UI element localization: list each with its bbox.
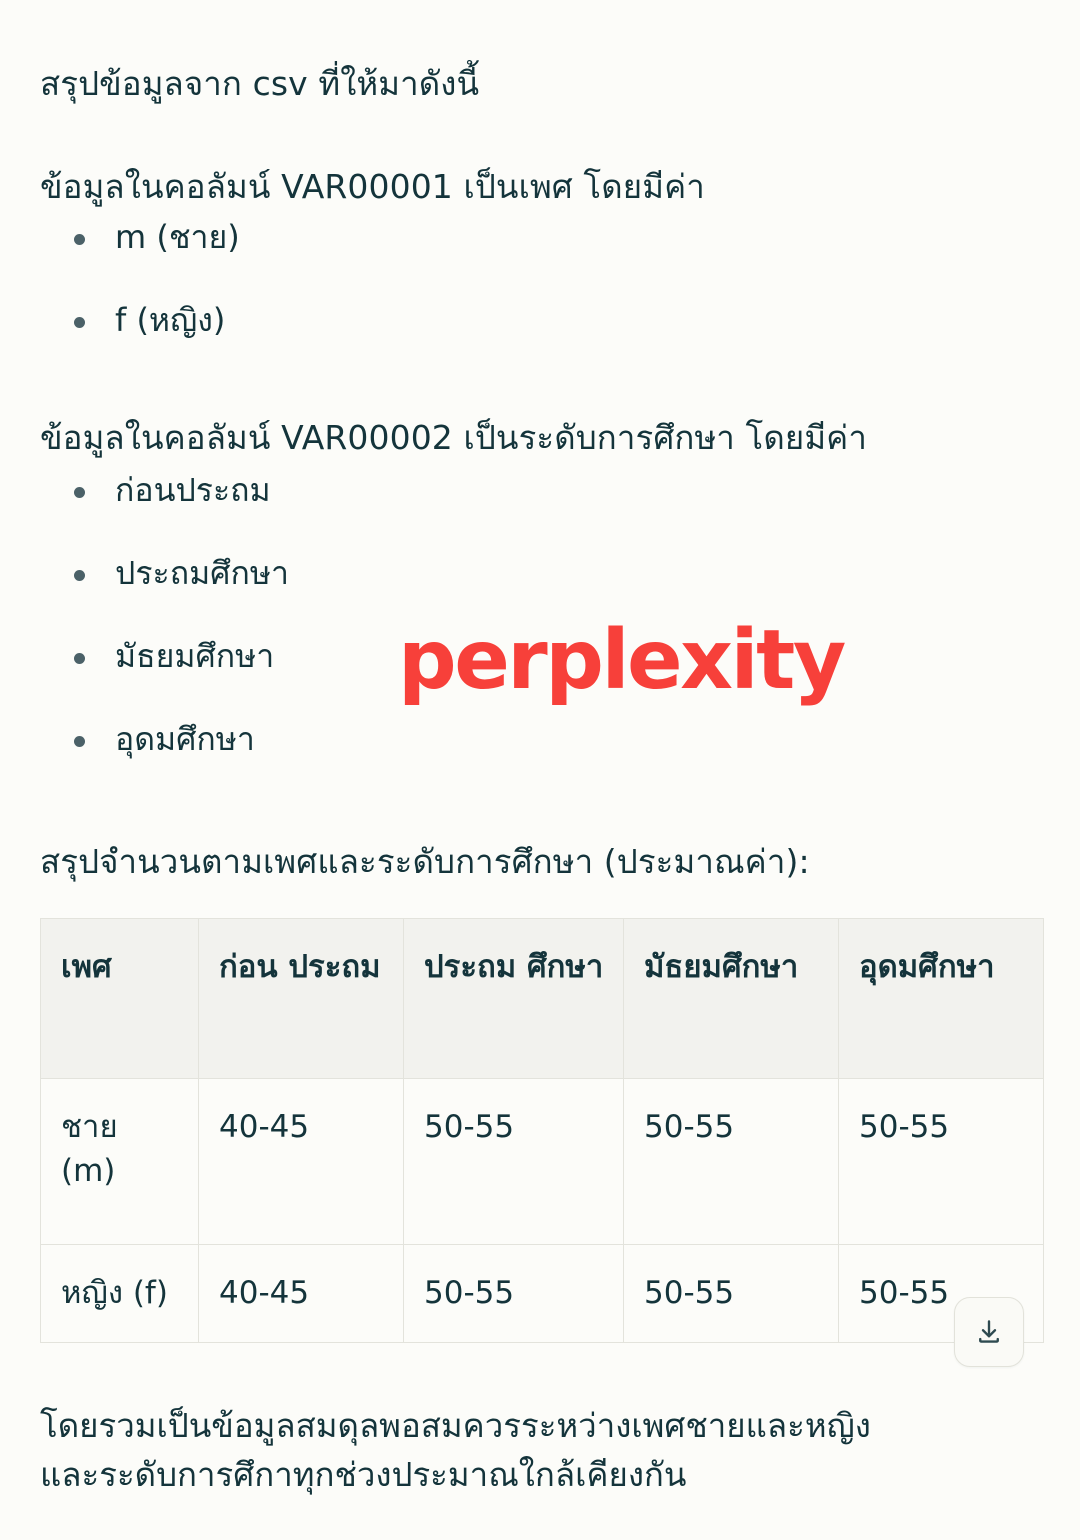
cell-female-preprimary: 40-45 xyxy=(199,1245,404,1343)
row-label-female: หญิง (f) xyxy=(41,1245,199,1343)
closing-line-1: โดยรวมเป็นข้อมูลสมดุลพอสมควรระหว่างเพศชา… xyxy=(40,1402,1044,1451)
var00002-heading: ข้อมูลในคอลัมน์ VAR00002 เป็นระดับการศึก… xyxy=(40,415,1040,462)
answer-page: สรุปข้อมูลจาก csv ที่ให้มาดังนี้ ข้อมูลใ… xyxy=(0,0,1080,1540)
table-header-row: เพศ ก่อน ประถม ประถม ศึกษา มัธยมศึกษา อุ… xyxy=(41,919,1044,1079)
column-header-secondary: มัธยมศึกษา xyxy=(624,919,839,1079)
table-row: หญิง (f) 40-45 50-55 50-55 50-55 xyxy=(41,1245,1044,1343)
education-value-label: ประถมศึกษา xyxy=(115,554,289,592)
download-icon xyxy=(974,1317,1004,1347)
gender-value-label: f (หญิง) xyxy=(115,301,225,339)
cell-male-primary: 50-55 xyxy=(404,1079,624,1245)
education-value-label: อุดมศึกษา xyxy=(115,720,255,758)
download-table-button[interactable] xyxy=(954,1297,1024,1367)
row-label-male: ชาย (m) xyxy=(41,1079,199,1245)
education-value-label: มัธยมศึกษา xyxy=(115,637,274,675)
table-body: ชาย (m) 40-45 50-55 50-55 50-55 หญิง (f)… xyxy=(41,1079,1044,1343)
cell-female-primary: 50-55 xyxy=(404,1245,624,1343)
education-value-label: ก่อนประถม xyxy=(115,471,271,509)
list-item: ก่อนประถม xyxy=(40,470,1040,553)
summary-heading: สรุปจำนวนตามเพศและระดับการศึกษา (ประมาณค… xyxy=(40,839,1040,886)
column-header-preprimary: ก่อน ประถม xyxy=(199,919,404,1079)
perplexity-watermark: perplexity xyxy=(398,620,844,702)
column-header-gender: เพศ xyxy=(41,919,199,1079)
gender-value-label: m (ชาย) xyxy=(115,218,240,256)
closing-paragraph: โดยรวมเป็นข้อมูลสมดุลพอสมควรระหว่างเพศชา… xyxy=(40,1402,1044,1500)
list-item: m (ชาย) xyxy=(40,217,1040,300)
var00001-heading: ข้อมูลในคอลัมน์ VAR00001 เป็นเพศ โดยมีค่… xyxy=(40,164,1040,211)
list-item: อุดมศึกษา xyxy=(40,719,1040,802)
list-item: f (หญิง) xyxy=(40,300,1040,383)
table-row: ชาย (m) 40-45 50-55 50-55 50-55 xyxy=(41,1079,1044,1245)
closing-line-2: และระดับการศึกาทุกช่วงประมาณใกล้เคียงกัน xyxy=(40,1451,1044,1500)
cell-female-secondary: 50-55 xyxy=(624,1245,839,1343)
cell-male-secondary: 50-55 xyxy=(624,1079,839,1245)
summary-table-wrapper: เพศ ก่อน ประถม ประถม ศึกษา มัธยมศึกษา อุ… xyxy=(40,918,1043,1343)
table-head: เพศ ก่อน ประถม ประถม ศึกษา มัธยมศึกษา อุ… xyxy=(41,919,1044,1079)
cell-male-tertiary: 50-55 xyxy=(839,1079,1044,1245)
gender-value-list: m (ชาย) f (หญิง) xyxy=(40,217,1040,383)
summary-table: เพศ ก่อน ประถม ประถม ศึกษา มัธยมศึกษา อุ… xyxy=(40,918,1044,1343)
intro-paragraph: สรุปข้อมูลจาก csv ที่ให้มาดังนี้ xyxy=(40,61,1040,108)
column-header-primary: ประถม ศึกษา xyxy=(404,919,624,1079)
cell-male-preprimary: 40-45 xyxy=(199,1079,404,1245)
column-header-tertiary: อุดมศึกษา xyxy=(839,919,1044,1079)
